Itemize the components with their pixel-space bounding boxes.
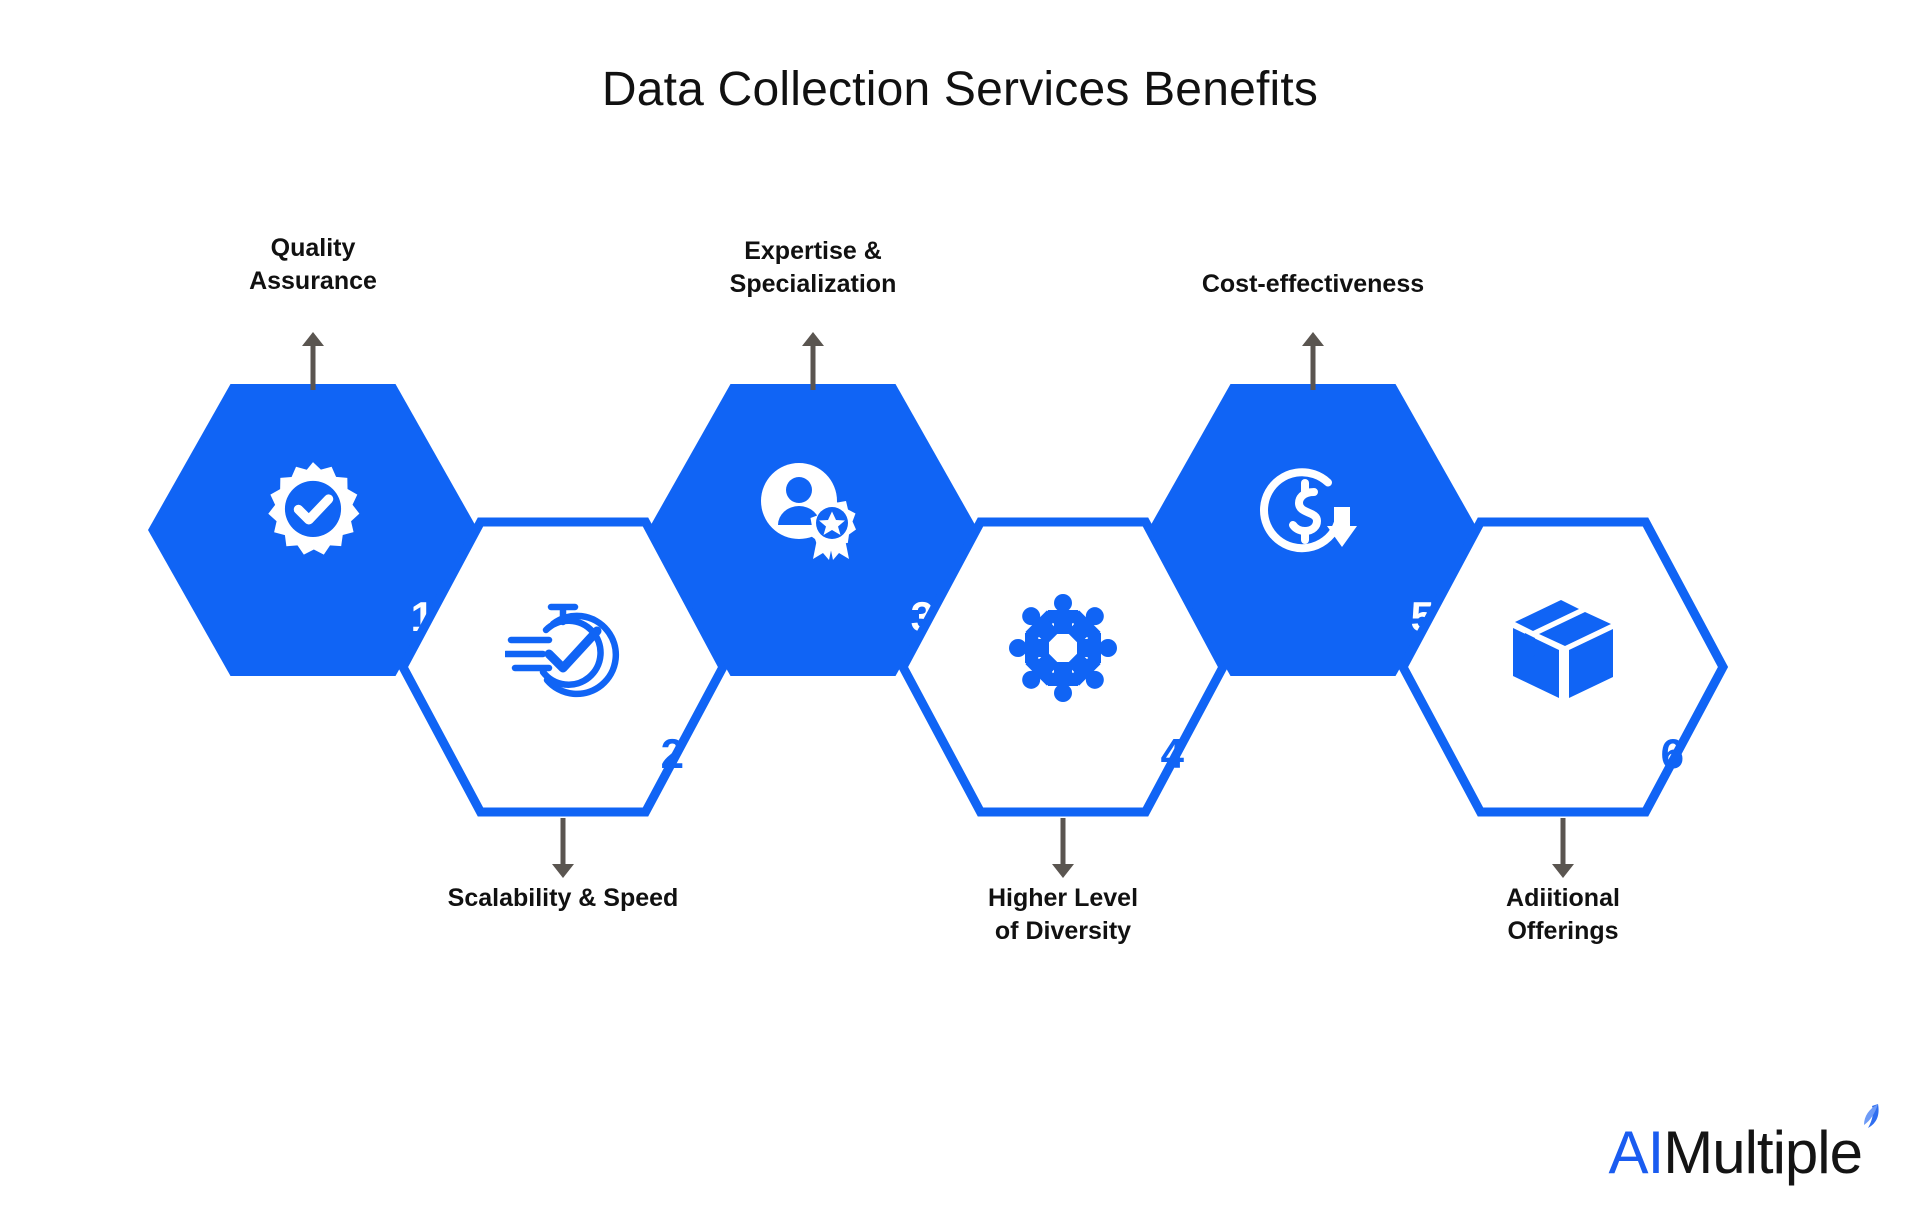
logo-text-ai: AI (1609, 1118, 1664, 1187)
hexagon-label-4: Higher Level of Diversity (898, 882, 1228, 948)
connector-arrow-down-6 (1547, 818, 1579, 880)
hexagon-label-3: Expertise & Specialization (648, 235, 978, 301)
hexagon-label-5-line1: Cost-effectiveness (1148, 268, 1478, 301)
hexagon-number-6: 6 (1661, 733, 1684, 775)
hexagon-label-1-line1: Quality (148, 232, 478, 265)
leaf-mark-icon (1856, 1082, 1882, 1151)
hexagon-label-1: Quality Assurance (148, 232, 478, 298)
hexagon-number-2: 2 (661, 733, 684, 775)
connector-arrow-down-2 (547, 818, 579, 880)
hexagon-label-2-line1: Scalability & Speed (398, 882, 728, 915)
logo-text-multiple: Multiple (1663, 1118, 1862, 1187)
hexagon-label-4-line2: of Diversity (898, 915, 1228, 948)
aimultiple-logo[interactable]: AI Multiple (1609, 1082, 1882, 1187)
hexagon-label-6-line1: Adiitional (1398, 882, 1728, 915)
hexagon-label-1-line2: Assurance (148, 265, 478, 298)
hexagon-label-2: Scalability & Speed (398, 882, 728, 915)
connector-arrow-up-3 (797, 330, 829, 392)
hexagon-label-5: Cost-effectiveness (1148, 268, 1478, 301)
connector-arrow-up-1 (297, 330, 329, 392)
connector-arrow-down-4 (1047, 818, 1079, 880)
hexagon-item-6[interactable]: 6 (1398, 517, 1728, 817)
hexagon-label-3-line1: Expertise & (648, 235, 978, 268)
hexagon-flow: 1 Quality Assurance (0, 0, 1920, 1000)
hexagon-label-3-line2: Specialization (648, 268, 978, 301)
hexagon-label-6-line2: Offerings (1398, 915, 1728, 948)
hexagon-number-4: 4 (1161, 733, 1184, 775)
connector-arrow-up-5 (1297, 330, 1329, 392)
hexagon-label-6: Adiitional Offerings (1398, 882, 1728, 948)
hexagon-label-4-line1: Higher Level (898, 882, 1228, 915)
